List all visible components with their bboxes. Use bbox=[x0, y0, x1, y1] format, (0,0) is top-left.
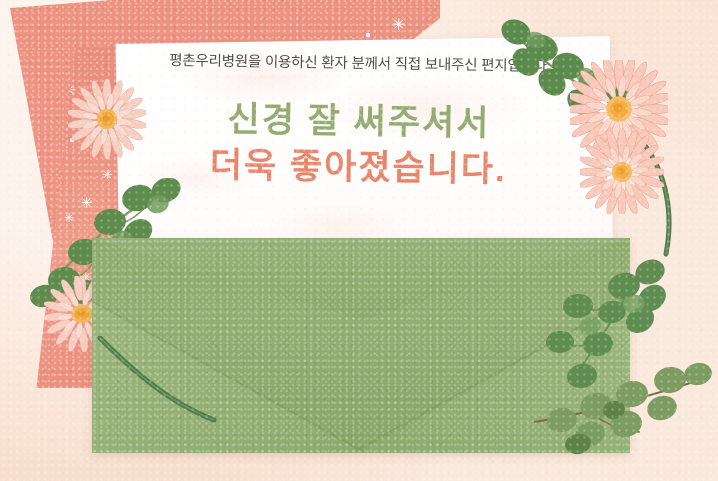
flower-stem-left bbox=[96, 336, 296, 446]
gerbera-right-lower bbox=[580, 130, 664, 214]
eucalyptus-lower-right bbox=[528, 358, 718, 468]
letter-card: ✳ ✳ ✳ ✳ ✳ ✳ 평촌우리병원을 이용하신 환자 분께서 직접 보내주신 … bbox=[0, 0, 718, 481]
